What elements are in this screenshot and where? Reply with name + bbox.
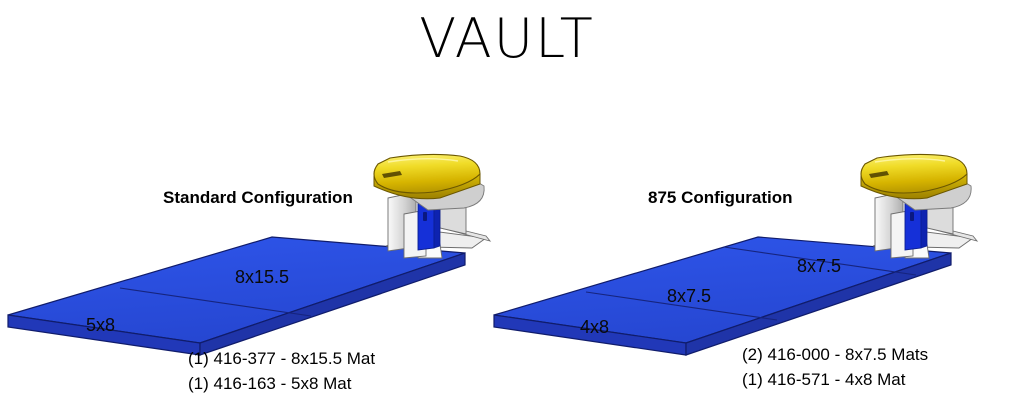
standard-configuration-legend: (1) 416-377 - 8x15.5 Mat (1) 416-163 - 5… (188, 346, 375, 396)
vault-table-standard (368, 152, 493, 267)
vault-column-detail (910, 212, 914, 221)
875-configuration-heading: 875 Configuration (648, 188, 793, 208)
vault-table-875 (855, 152, 980, 267)
page-title: VAULT (0, 8, 1014, 70)
vault-table-svg-right (855, 152, 980, 262)
mat-label-4x8: 4x8 (580, 317, 609, 338)
standard-configuration-heading: Standard Configuration (163, 188, 353, 208)
legend-line: (2) 416-000 - 8x7.5 Mats (742, 342, 928, 367)
mat-label-8x7-5-far: 8x7.5 (797, 256, 841, 277)
legend-line: (1) 416-377 - 8x15.5 Mat (188, 346, 375, 371)
mat-label-5x8: 5x8 (86, 315, 115, 336)
875-configuration-legend: (2) 416-000 - 8x7.5 Mats (1) 416-571 - 4… (742, 342, 928, 392)
legend-line: (1) 416-163 - 5x8 Mat (188, 371, 375, 396)
vault-table-svg-left (368, 152, 493, 262)
mat-label-8x15-5: 8x15.5 (235, 267, 289, 288)
vault-column-detail (423, 212, 427, 221)
mat-label-8x7-5-mid: 8x7.5 (667, 286, 711, 307)
legend-line: (1) 416-571 - 4x8 Mat (742, 367, 928, 392)
vault-configuration-diagram: VAULT Standard Configuration 8x15.5 5x8 (0, 0, 1014, 408)
